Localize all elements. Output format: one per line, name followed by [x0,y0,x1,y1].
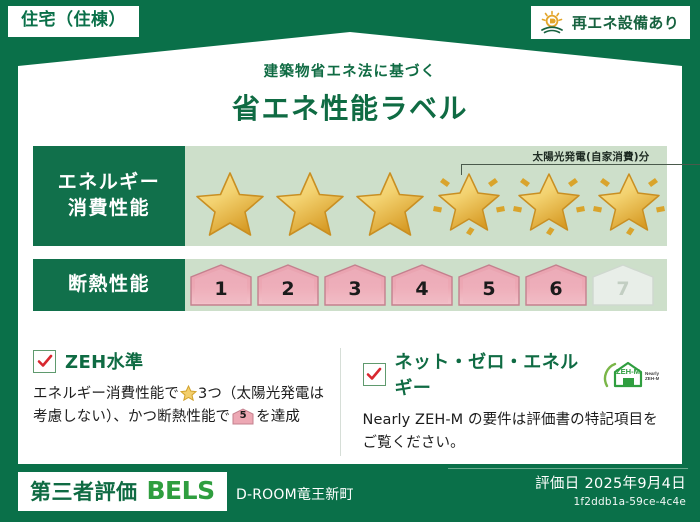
insulation-performance-row: 断熱性能 1 [33,259,667,311]
page-title: 省エネ性能ラベル [0,87,700,127]
insulation-performance-label-panel: 断熱性能 [33,259,185,311]
zeh-m-logo: ZEH-M Nearly ZEH-M [603,359,659,389]
sparkle-star-icon [509,162,589,246]
solar-sun-icon [539,10,565,34]
star-icon [275,170,345,238]
star-item [189,162,269,246]
insulation-step-value: 4 [415,278,428,307]
row-spacer [33,246,667,259]
insulation-step-value: 3 [348,278,361,307]
evaluation-date-value: 2025年9月4日 [584,476,686,492]
insulation-step-value: 1 [214,278,227,307]
star-icon [355,170,425,238]
energy-performance-row: エネルギー 消費性能 太陽光発電(自家消費)分 [33,146,667,246]
sparkle-star-icon [429,162,509,246]
energy-performance-label: 住宅（住棟） 再エネ設備あり 建築物省エネ法に基づく 省エネ性能ラベル [0,0,700,522]
inline-star-icon [180,385,197,401]
star-icon [195,170,265,238]
footer-divider [448,468,688,469]
check-icon [366,366,382,382]
bels-en-label: BELS [147,476,215,505]
insulation-step-inactive: 7 [591,263,655,307]
star-item-solar [509,162,589,246]
criterion-zeh-header: ZEH水準 [33,348,330,374]
insulation-step-value: 5 [482,278,495,307]
label-footer: 第三者評価 BELS D-ROOM竜王新町 評価日 2025年9月4日 1f2d… [0,464,700,522]
title-block: 建築物省エネ法に基づく 省エネ性能ラベル [0,60,700,127]
bels-jp-label: 第三者評価 [30,476,138,506]
category-chip: 住宅（住棟） [8,6,139,37]
criterion-net-zero-title: ネット・ゼロ・エネルギー [395,348,587,400]
star-item-solar [589,162,669,246]
insulation-step-value: 7 [616,278,629,307]
insulation-step: 3 [323,263,387,307]
renewable-badge-label: 再エネ設備あり [572,12,679,33]
insulation-rating-band: 1 2 3 [185,259,667,311]
criterion-zeh-text-part1: エネルギー消費性能で [33,386,179,402]
insulation-house-scale: 1 2 3 [189,263,655,307]
criterion-net-zero-header: ネット・ゼロ・エネルギー ZEH-M Nearly ZEH-M [363,348,660,400]
energy-performance-label-panel: エネルギー 消費性能 [33,146,185,246]
criterion-zeh-text-part3: を達成 [256,409,300,425]
renewable-energy-badge: 再エネ設備あり [531,6,690,39]
energy-rating-band: 太陽光発電(自家消費)分 [185,146,667,246]
criteria-section: ZEH水準 エネルギー消費性能で 3つ（太陽光発電は考慮しない）、かつ断熱性能で… [33,348,669,456]
energy-label-line1: エネルギー [58,170,161,196]
insulation-step: 5 [457,263,521,307]
sparkle-star-icon [589,162,669,246]
insulation-step-value: 6 [549,278,562,307]
criterion-zeh-text: エネルギー消費性能で 3つ（太陽光発電は考慮しない）、かつ断熱性能で 5を達成 [33,383,330,430]
checkbox-net-zero[interactable] [363,363,386,386]
evaluation-date-label: 評価日 [535,476,579,492]
project-name: D-ROOM竜王新町 [236,484,354,504]
svg-text:ZEH-M: ZEH-M [616,367,640,376]
star-item [349,162,429,246]
criterion-net-zero: ネット・ゼロ・エネルギー ZEH-M Nearly ZEH-M Nearly Z… [340,348,670,456]
insulation-step-value: 2 [281,278,294,307]
document-id: 1f2ddb1a-59ce-4c4e [535,496,686,508]
star-rating [189,162,671,246]
insulation-step: 6 [524,263,588,307]
check-icon [37,353,53,369]
insulation-step: 2 [256,263,320,307]
insulation-step: 4 [390,263,454,307]
star-item-solar [429,162,509,246]
insulation-label-line1: 断熱性能 [68,272,150,298]
checkbox-zeh[interactable] [33,350,56,373]
inline-house-icon: 5 [232,408,254,425]
criterion-zeh-title: ZEH水準 [65,348,143,374]
energy-label-line2: 消費性能 [68,196,150,222]
bels-badge: 第三者評価 BELS [18,472,227,511]
criterion-net-zero-text: Nearly ZEH-M の要件は評価書の特記項目をご覧ください。 [363,409,660,456]
criterion-zeh: ZEH水準 エネルギー消費性能で 3つ（太陽光発電は考慮しない）、かつ断熱性能で… [33,348,340,456]
footer-meta: 評価日 2025年9月4日 1f2ddb1a-59ce-4c4e [535,472,686,508]
inline-house-value: 5 [232,408,254,425]
star-item [269,162,349,246]
title-subtitle: 建築物省エネ法に基づく [0,60,700,81]
evaluation-date: 評価日 2025年9月4日 [535,472,686,493]
insulation-step: 1 [189,263,253,307]
svg-text:ZEH-M: ZEH-M [645,376,659,381]
performance-rows: エネルギー 消費性能 太陽光発電(自家消費)分 [33,146,667,311]
